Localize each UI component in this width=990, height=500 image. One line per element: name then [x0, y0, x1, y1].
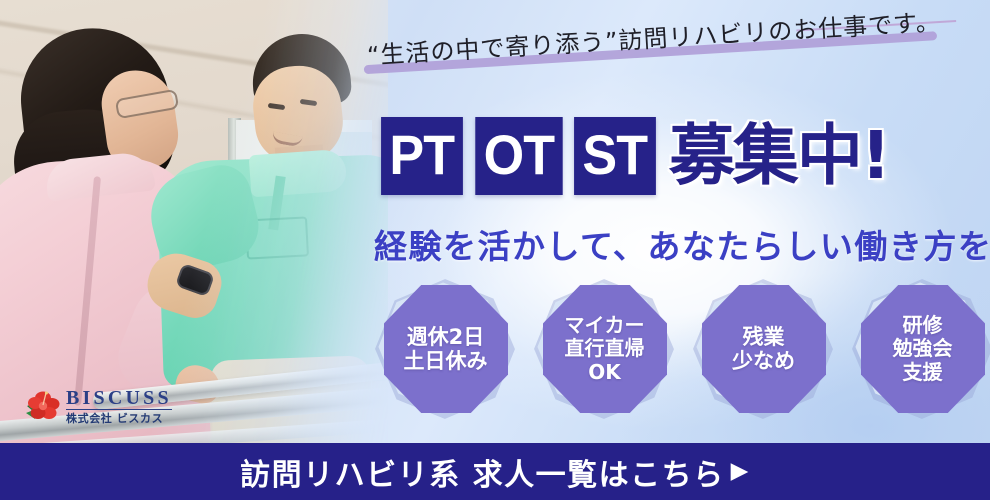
badge-label: マイカー 直行直帰 OK [537, 282, 672, 416]
hibiscus-icon [24, 389, 62, 423]
headline-row: PT OT ST 募集中! [378, 117, 889, 195]
badge-label: 研修 勉強会 支援 [855, 282, 990, 416]
badge-weekly-holiday: 週休2日 土日休み [378, 282, 513, 416]
headline-japanese: 募集中! [669, 123, 889, 189]
badge-label: 週休2日 土日休み [378, 282, 513, 416]
badge-label: 残業 少なめ [696, 282, 831, 416]
biscuss-logo: BISCUSS 株式会社 ビスカス [24, 388, 172, 424]
badge-training-support: 研修 勉強会 支援 [855, 282, 990, 416]
cta-label: 訪問リハビリ系 求人一覧はこちら [240, 450, 724, 494]
chip-pt: PT [381, 117, 462, 195]
logo-name: BISCUSS [66, 388, 172, 410]
chip-st: ST [574, 117, 655, 195]
recruitment-banner: BISCUSS 株式会社 ビスカス “生活の中で寄り添う”訪問リハビリのお仕事で… [0, 0, 990, 500]
chip-ot: OT [475, 117, 562, 195]
badge-low-overtime: 残業 少なめ [696, 282, 831, 416]
cta-text-wrap: 訪問リハビリ系 求人一覧はこちら ▶ [240, 450, 750, 494]
cta-bar[interactable]: 訪問リハビリ系 求人一覧はこちら ▶ [0, 443, 990, 500]
benefit-badges: 週休2日 土日休み マイカー 直行直帰 OK 残業 少なめ 研修 勉強会 支援 [378, 282, 990, 416]
arrow-right-icon: ▶ [731, 460, 750, 483]
badge-car-commute: マイカー 直行直帰 OK [537, 282, 672, 416]
logo-subtitle: 株式会社 ビスカス [66, 413, 172, 424]
logo-text-block: BISCUSS 株式会社 ビスカス [66, 388, 172, 424]
subtitle: 経験を活かして、あなたらしい働き方を。 [374, 220, 990, 268]
